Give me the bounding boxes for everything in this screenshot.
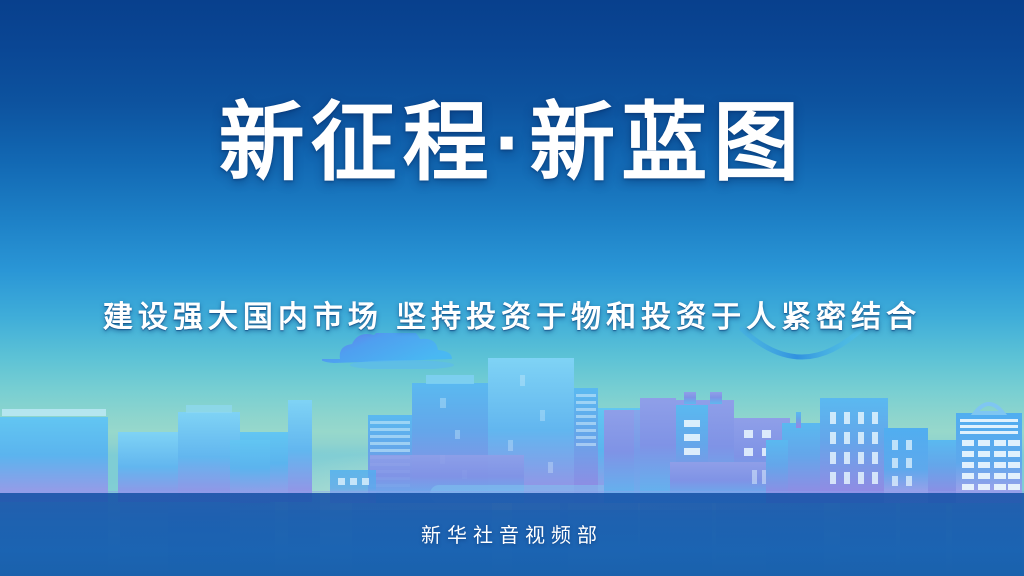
sky-background	[0, 0, 1024, 576]
page-subtitle: 建设强大国内市场 坚持投资于物和投资于人紧密结合	[0, 292, 1024, 336]
page-title: 新征程·新蓝图	[0, 95, 1024, 191]
credit-line: 新华社音视频部	[0, 519, 1024, 548]
poster-canvas: 新征程·新蓝图 建设强大国内市场 坚持投资于物和投资于人紧密结合 新华社音视频部	[0, 0, 1024, 576]
